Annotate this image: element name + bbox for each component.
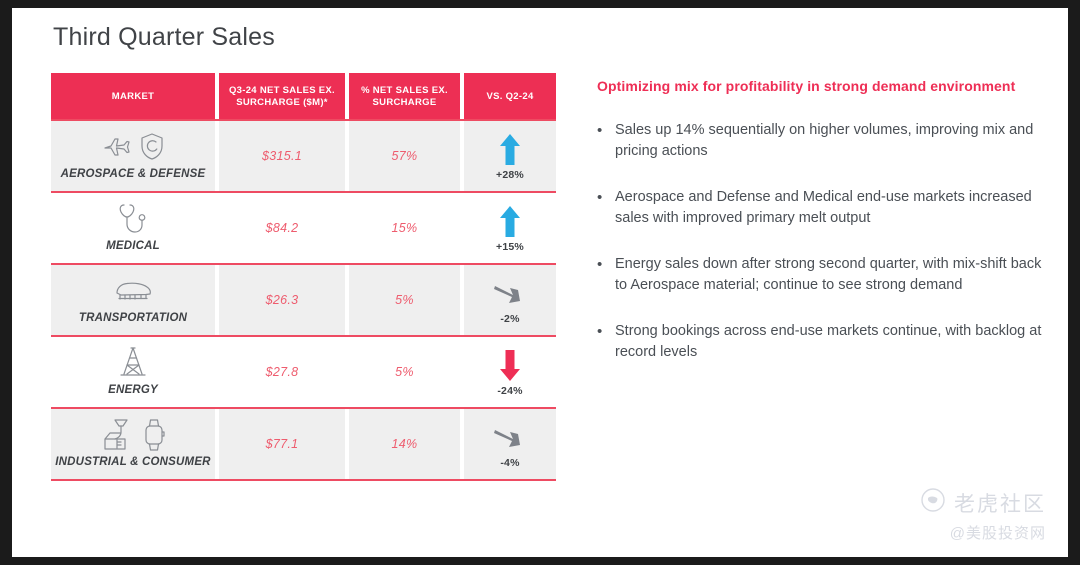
sales-table: MARKET Q3-24 NET SALES EX. SURCHARGE ($M…	[51, 73, 556, 481]
page-title: Third Quarter Sales	[53, 23, 275, 52]
vs-q2-cell: +15%	[464, 193, 556, 263]
bullet-marker: •	[597, 120, 603, 162]
column-header-net-sales: Q3-24 NET SALES EX. SURCHARGE ($M)*	[219, 73, 345, 121]
pct-net-sales-cell: 57%	[349, 121, 460, 191]
vs-q2-cell: -24%	[464, 337, 556, 407]
market-cell: MEDICAL	[51, 193, 215, 263]
pct-net-sales-cell: 5%	[349, 265, 460, 335]
vs-q2-cell: +28%	[464, 121, 556, 191]
stethoscope-icon	[117, 202, 149, 241]
vs-q2-cell: -4%	[464, 409, 556, 479]
pct-net-sales-cell: 14%	[349, 409, 460, 479]
watermark: 老虎社区 @美股投资网	[920, 487, 1046, 543]
list-item-text: Energy sales down after strong second qu…	[615, 254, 1052, 296]
list-item: • Sales up 14% sequentially on higher vo…	[597, 120, 1052, 162]
net-sales-value: $315.1	[262, 149, 302, 163]
pct-net-sales-cell: 15%	[349, 193, 460, 263]
delta-value: +28%	[496, 169, 524, 181]
column-header-market: MARKET	[51, 73, 215, 121]
market-icon-group	[117, 204, 149, 238]
watermark-handle: @美股投资网	[920, 522, 1046, 543]
market-label: MEDICAL	[106, 240, 160, 252]
shield-icon	[139, 132, 165, 166]
table-row: TRANSPORTATION $26.3 5% -2%	[51, 263, 556, 337]
bullet-marker: •	[597, 254, 603, 296]
trend-arrow-up-icon	[499, 131, 521, 169]
list-item-text: Aerospace and Defense and Medical end-us…	[615, 187, 1052, 229]
column-header-vs-q2: VS. Q2-24	[464, 73, 556, 121]
trend-arrow-flat-down-icon	[493, 419, 527, 457]
market-label: TRANSPORTATION	[79, 312, 187, 324]
market-cell: INDUSTRIAL & CONSUMER	[51, 409, 215, 479]
market-cell: AEROSPACE & DEFENSE	[51, 121, 215, 191]
net-sales-cell: $84.2	[219, 193, 345, 263]
bullet-marker: •	[597, 187, 603, 229]
pct-net-sales-value: 14%	[392, 437, 418, 451]
pct-net-sales-value: 15%	[392, 221, 418, 235]
trend-arrow-up-icon	[499, 203, 521, 241]
market-icon-group	[113, 276, 153, 310]
pct-net-sales-value: 5%	[395, 365, 414, 379]
table-row: AEROSPACE & DEFENSE $315.1 57% +28%	[51, 119, 556, 193]
table-header-row: MARKET Q3-24 NET SALES EX. SURCHARGE ($M…	[51, 73, 556, 121]
delta-value: -4%	[500, 457, 519, 469]
tiger-logo-icon	[920, 487, 946, 518]
bullet-marker: •	[597, 321, 603, 363]
market-icon-group	[101, 420, 166, 454]
market-label: ENERGY	[108, 384, 158, 396]
net-sales-cell: $77.1	[219, 409, 345, 479]
pct-net-sales-value: 5%	[395, 293, 414, 307]
foundry-ladle-icon	[101, 418, 135, 457]
net-sales-value: $27.8	[266, 365, 299, 379]
delta-value: -2%	[500, 313, 519, 325]
list-item: • Energy sales down after strong second …	[597, 254, 1052, 296]
vs-q2-cell: -2%	[464, 265, 556, 335]
net-sales-cell: $315.1	[219, 121, 345, 191]
market-cell: TRANSPORTATION	[51, 265, 215, 335]
slide-canvas: Third Quarter Sales MARKET Q3-24 NET SAL…	[12, 8, 1068, 557]
car-icon	[113, 278, 153, 309]
list-item: • Strong bookings across end-use markets…	[597, 321, 1052, 363]
trend-arrow-down-icon	[499, 347, 521, 385]
net-sales-value: $77.1	[266, 437, 299, 451]
market-label: INDUSTRIAL & CONSUMER	[55, 456, 210, 468]
net-sales-cell: $27.8	[219, 337, 345, 407]
market-icon-group	[118, 348, 148, 382]
pct-net-sales-cell: 5%	[349, 337, 460, 407]
delta-value: +15%	[496, 241, 524, 253]
table-row: MEDICAL $84.2 15% +15%	[51, 191, 556, 265]
pct-net-sales-value: 57%	[392, 149, 418, 163]
table-row: INDUSTRIAL & CONSUMER $77.1 14% -4%	[51, 407, 556, 481]
column-header-pct-net-sales: % NET SALES EX. SURCHARGE	[349, 73, 460, 121]
delta-value: -24%	[497, 385, 522, 397]
market-cell: ENERGY	[51, 337, 215, 407]
list-item-text: Strong bookings across end-use markets c…	[615, 321, 1052, 363]
net-sales-value: $26.3	[266, 293, 299, 307]
commentary-panel: Optimizing mix for profitability in stro…	[597, 78, 1052, 388]
watermark-top: 老虎社区	[920, 487, 1046, 518]
list-item-text: Sales up 14% sequentially on higher volu…	[615, 120, 1052, 162]
watermark-name: 老虎社区	[954, 488, 1046, 518]
commentary-heading: Optimizing mix for profitability in stro…	[597, 78, 1052, 94]
list-item: • Aerospace and Defense and Medical end-…	[597, 187, 1052, 229]
net-sales-cell: $26.3	[219, 265, 345, 335]
table-row: ENERGY $27.8 5% -24%	[51, 335, 556, 409]
airplane-icon	[102, 134, 132, 165]
smartwatch-icon	[142, 418, 166, 457]
oil-derrick-icon	[118, 346, 148, 385]
market-icon-group	[102, 132, 165, 166]
market-label: AEROSPACE & DEFENSE	[61, 168, 206, 180]
net-sales-value: $84.2	[266, 221, 299, 235]
trend-arrow-flat-down-icon	[493, 275, 527, 313]
